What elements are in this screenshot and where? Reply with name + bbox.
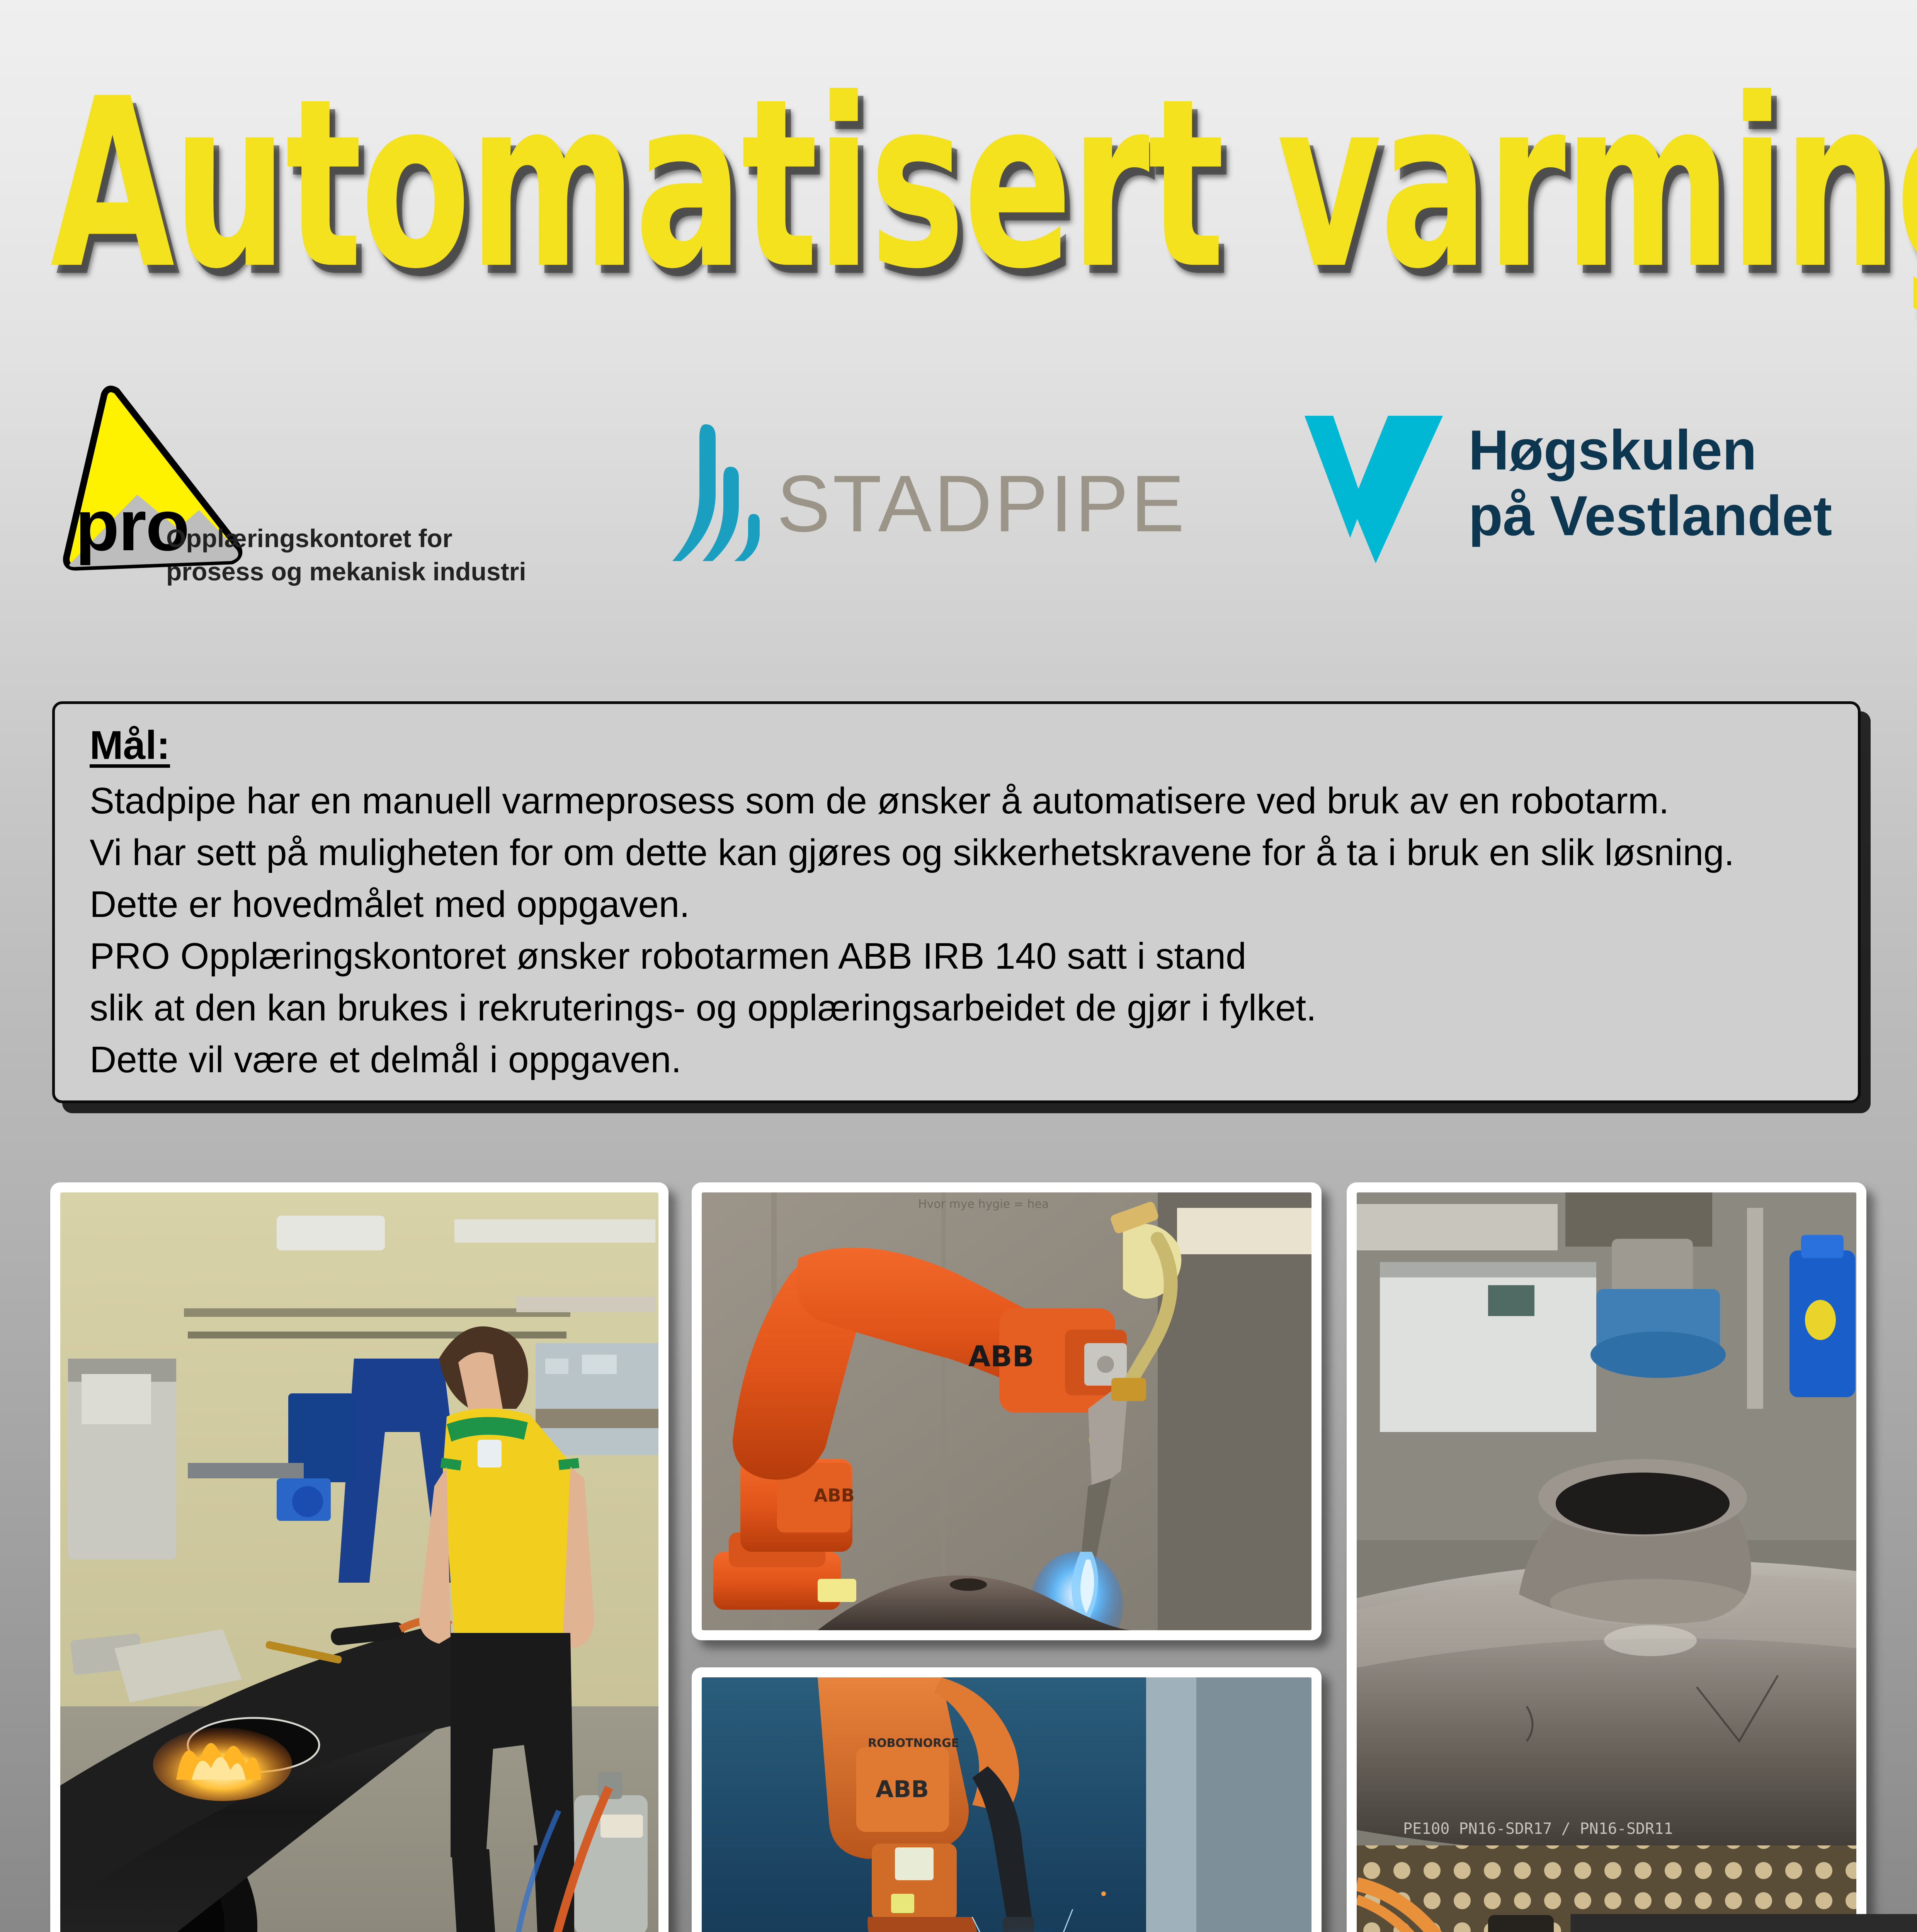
svg-text:ABB: ABB xyxy=(876,1776,929,1803)
pro-subtitle: Opplæringskontoret for prosess og mekani… xyxy=(166,522,526,588)
hvl-wordmark: Høgskulen på Vestlandet xyxy=(1468,417,1832,549)
hvl-line2: på Vestlandet xyxy=(1468,483,1832,549)
poster-root: Automatisert varming av rør pro Opplærin… xyxy=(0,0,1917,1932)
poster-title: Automatisert varming av rør xyxy=(50,68,1874,284)
hvl-v-icon xyxy=(1302,413,1445,564)
photo-pipe-branch-image: PE100 PN16-SDR17 / PN16-SDR11 xyxy=(1357,1192,1856,1932)
page-title: Automatisert varming av rør xyxy=(50,68,1509,301)
goal-heading: Mål: xyxy=(90,723,170,768)
goal-line: slik at den kan brukes i rekruterings- o… xyxy=(90,982,1858,1034)
goal-line: Dette vil være et delmål i oppgaven. xyxy=(90,1034,1858,1086)
svg-text:Hvor mye hygie = hea: Hvor mye hygie = hea xyxy=(918,1197,1049,1211)
goal-line: Dette er hovedmålet med oppgaven. xyxy=(90,879,1858,930)
svg-text:ROBOTNORGE: ROBOTNORGE xyxy=(868,1736,959,1750)
stadpipe-wordmark: STADPIPE xyxy=(777,464,1187,544)
photo-pipe-branch: PE100 PN16-SDR17 / PN16-SDR11 xyxy=(1347,1182,1866,1932)
photo-abb-robot-welding-image: ABB ROBOTNORGE xyxy=(702,1677,1311,1932)
svg-text:ABB: ABB xyxy=(968,1340,1034,1373)
logo-stadpipe: STADPIPE xyxy=(672,417,1194,572)
goal-textbox: Mål: Stadpipe har en manuell varmeproses… xyxy=(52,701,1861,1103)
goal-line: Vi har sett på muligheten for om dette k… xyxy=(90,827,1858,879)
goal-line: Stadpipe har en manuell varmeprosess som… xyxy=(90,775,1858,827)
photo-abb-robot-welding: ABB ROBOTNORGE xyxy=(692,1667,1322,1932)
photo-manual-heating-image xyxy=(60,1192,658,1932)
hvl-line1: Høgskulen xyxy=(1468,417,1832,483)
pro-subtitle-line2: prosess og mekanisk industri xyxy=(166,555,526,588)
photo-abb-robot-torch: ABB ABB xyxy=(692,1182,1322,1640)
photo-abb-robot-torch-image: ABB ABB xyxy=(702,1192,1311,1630)
stadpipe-wave-icon xyxy=(672,417,773,564)
svg-text:PE100 PN16-SDR17 / PN16-SDR1: PE100 PN16-SDR17 / PN16-SDR11 xyxy=(1403,1820,1673,1838)
goal-body: Stadpipe har en manuell varmeprosess som… xyxy=(90,775,1858,1086)
logo-pro: pro Opplæringskontoret for prosess og me… xyxy=(54,379,518,595)
photo-manual-heating xyxy=(50,1182,668,1932)
pro-subtitle-line1: Opplæringskontoret for xyxy=(166,522,526,555)
goal-line: PRO Opplæringskontoret ønsker robotarmen… xyxy=(90,930,1858,982)
svg-text:ABB: ABB xyxy=(814,1485,855,1506)
logo-hvl: Høgskulen på Vestlandet xyxy=(1302,410,1874,572)
logo-strip: pro Opplæringskontoret for prosess og me… xyxy=(0,371,1917,611)
photo-grid: ABB ABB xyxy=(50,1182,1866,1932)
